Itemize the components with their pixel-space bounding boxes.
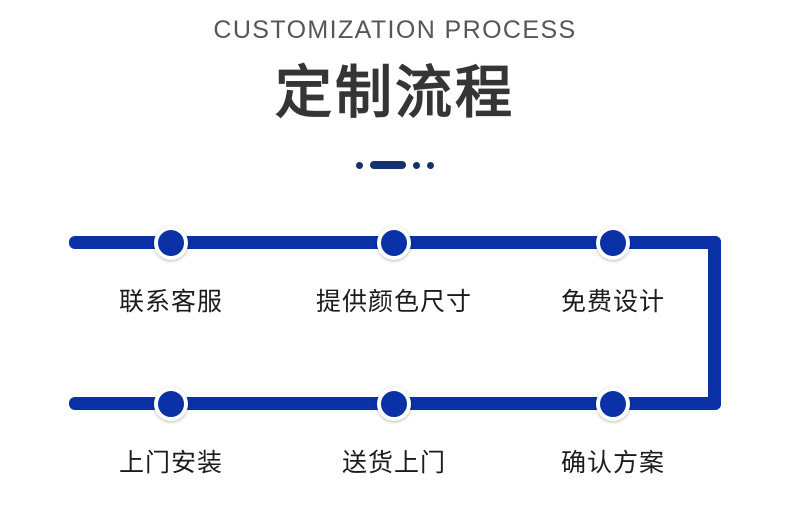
divider-dot-icon xyxy=(356,162,363,169)
flow-step-label-4: 上门安装 xyxy=(61,443,281,479)
flow-line-connector xyxy=(708,236,721,410)
flow-node-step-2 xyxy=(377,226,411,260)
flow-node-step-5 xyxy=(377,387,411,421)
divider-dot-icon xyxy=(413,162,420,169)
flow-step-label-3: 免费设计 xyxy=(503,282,723,318)
decorative-divider xyxy=(0,158,790,172)
flow-node-step-1 xyxy=(154,226,188,260)
flow-step-label-5: 送货上门 xyxy=(284,443,504,479)
flow-node-step-3 xyxy=(596,226,630,260)
flow-node-step-6 xyxy=(596,387,630,421)
flow-step-label-6: 确认方案 xyxy=(503,443,723,479)
flow-step-label-2: 提供颜色尺寸 xyxy=(284,282,504,318)
process-flow-diagram: 联系客服 提供颜色尺寸 免费设计 上门安装 送货上门 确认方案 xyxy=(0,205,790,495)
flow-step-label-1: 联系客服 xyxy=(61,282,281,318)
page-title: 定制流程 xyxy=(0,58,790,128)
flow-node-step-4 xyxy=(154,387,188,421)
divider-dot-icon xyxy=(427,162,434,169)
english-title: CUSTOMIZATION PROCESS xyxy=(0,16,790,45)
customization-process-banner: CUSTOMIZATION PROCESS 定制流程 联系客服 提供颜色尺寸 免… xyxy=(0,0,790,505)
divider-dash-icon xyxy=(370,161,406,169)
